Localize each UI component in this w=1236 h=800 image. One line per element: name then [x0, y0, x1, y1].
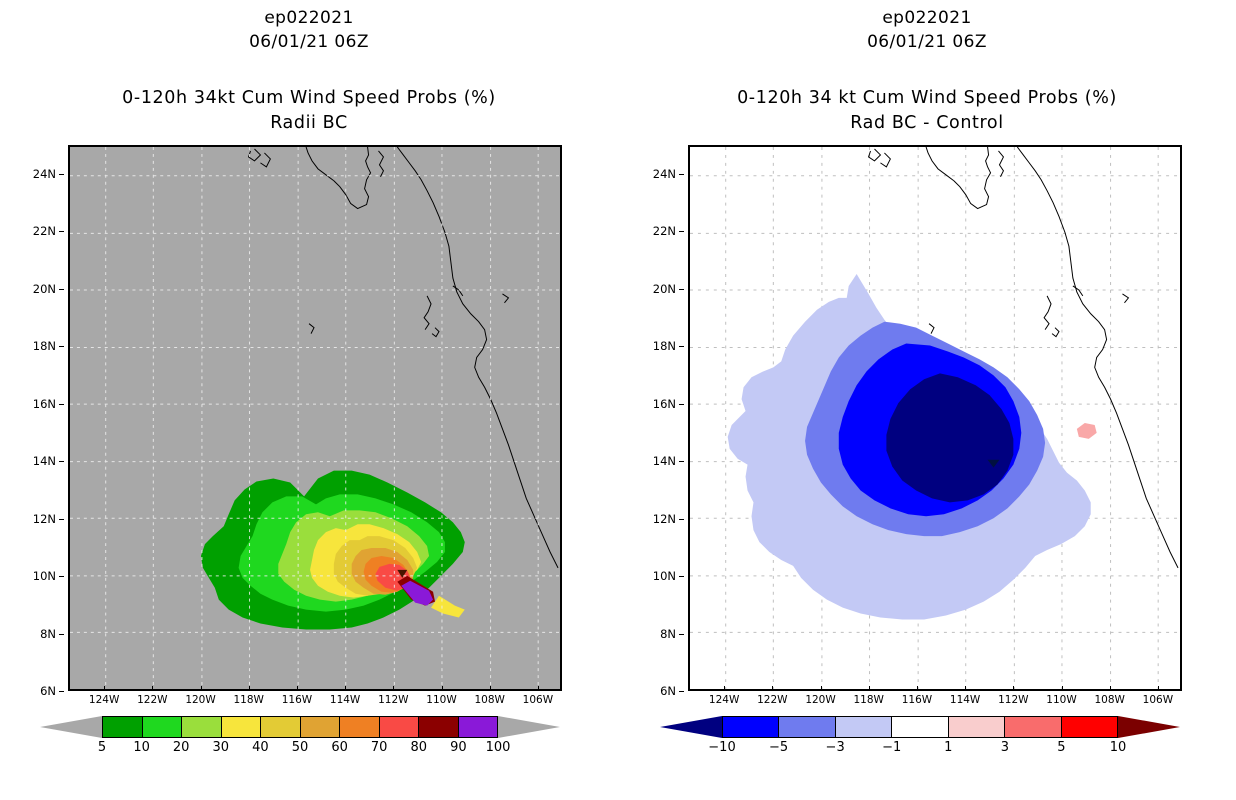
- right-x-axis: 124W122W120W118W116W114W112W110W108W106W: [688, 692, 1182, 718]
- right-xtick-122W: 122W: [757, 694, 787, 706]
- left-storm-id: ep022021: [0, 8, 618, 28]
- left-ytick-mark: [59, 174, 64, 175]
- left-xtick-116W: 116W: [282, 694, 312, 706]
- left-xtick-124W: 124W: [89, 694, 119, 706]
- right-contour-layer: [690, 147, 1180, 689]
- left-ytick-12N: 12N: [33, 512, 56, 526]
- right-xtick-mark: [1062, 686, 1063, 691]
- left-xtick-114W: 114W: [330, 694, 360, 706]
- right-xtick-116W: 116W: [902, 694, 932, 706]
- left-title-sub: Radii BC: [0, 113, 618, 133]
- left-xtick-108W: 108W: [474, 694, 504, 706]
- left-xtick-106W: 106W: [523, 694, 553, 706]
- right-ytick-18N: 18N: [653, 339, 676, 353]
- left-ytick-mark: [59, 634, 64, 635]
- right-title-sub: Rad BC - Control: [618, 113, 1236, 133]
- left-ytick-mark: [59, 289, 64, 290]
- colorbar-low-arrow-icon: [40, 716, 102, 738]
- wind-speed-probability-figure: ep022021 06/01/21 06Z 0-120h 34kt Cum Wi…: [0, 0, 1236, 800]
- left-xtick-mark: [297, 686, 298, 691]
- right-ytick-16N: 16N: [653, 397, 676, 411]
- left-ytick-18N: 18N: [33, 339, 56, 353]
- left-ytick-14N: 14N: [33, 454, 56, 468]
- left-ytick-mark: [59, 231, 64, 232]
- right-xtick-118W: 118W: [854, 694, 884, 706]
- cbar-left-ticks-label-2: 20: [173, 740, 190, 755]
- right-storm-id: ep022021: [618, 8, 1236, 28]
- left-xtick-mark: [249, 686, 250, 691]
- cbar-right-ticks-label-4: 1: [944, 740, 952, 755]
- cbar-right-ticks-label-5: 3: [1001, 740, 1009, 755]
- right-ytick-mark: [679, 634, 684, 635]
- left-ytick-mark: [59, 691, 64, 692]
- right-xtick-mark: [869, 686, 870, 691]
- right-xtick-106W: 106W: [1143, 694, 1173, 706]
- right-y-axis: 6N8N10N12N14N16N18N20N22N24N: [620, 145, 684, 691]
- left-ytick-mark: [59, 461, 64, 462]
- left-xtick-mark: [201, 686, 202, 691]
- cbar-left-ticks-label-7: 70: [371, 740, 388, 755]
- left-ytick-mark: [59, 346, 64, 347]
- left-xtick-mark: [538, 686, 539, 691]
- left-ytick-6N: 6N: [40, 684, 56, 698]
- cbar-right-ticks-label-7: 10: [1110, 740, 1127, 755]
- right-xtick-114W: 114W: [950, 694, 980, 706]
- right-xtick-112W: 112W: [998, 694, 1028, 706]
- colorbar-high-arrow-icon: [498, 716, 560, 738]
- left-xtick-118W: 118W: [234, 694, 264, 706]
- cbar-left-ticks-label-1: 10: [133, 740, 150, 755]
- right-xtick-mark: [772, 686, 773, 691]
- cbar-right-ticks-label-1: −5: [769, 740, 788, 755]
- cbar-left-ticks-label-0: 5: [98, 740, 106, 755]
- left-ytick-24N: 24N: [33, 167, 56, 181]
- right-colorbar[interactable]: −10−5−3−113510: [660, 716, 1180, 776]
- cbar-left-ticks-label-6: 60: [331, 740, 348, 755]
- right-colorbar-bands: [660, 716, 1180, 738]
- left-colorbar-bands: [40, 716, 560, 738]
- right-ytick-6N: 6N: [660, 684, 676, 698]
- right-ytick-mark: [679, 576, 684, 577]
- right-ytick-12N: 12N: [653, 512, 676, 526]
- cbar-right-ticks-label-3: −1: [882, 740, 901, 755]
- left-xtick-112W: 112W: [378, 694, 408, 706]
- left-ytick-mark: [59, 519, 64, 520]
- right-xtick-110W: 110W: [1046, 694, 1076, 706]
- right-xtick-mark: [724, 686, 725, 691]
- left-title-main: 0-120h 34kt Cum Wind Speed Probs (%): [0, 88, 618, 108]
- left-xtick-mark: [345, 686, 346, 691]
- right-ytick-mark: [679, 404, 684, 405]
- right-ytick-10N: 10N: [653, 569, 676, 583]
- left-xtick-mark: [152, 686, 153, 691]
- left-xtick-mark: [442, 686, 443, 691]
- right-ytick-22N: 22N: [653, 224, 676, 238]
- left-xtick-110W: 110W: [426, 694, 456, 706]
- right-datetime: 06/01/21 06Z: [618, 32, 1236, 52]
- cbar-right-ticks-label-6: 5: [1057, 740, 1065, 755]
- left-ytick-16N: 16N: [33, 397, 56, 411]
- right-colorbar-ticks: −10−5−3−113510: [660, 740, 1180, 762]
- right-title-main: 0-120h 34 kt Cum Wind Speed Probs (%): [618, 88, 1236, 108]
- left-ytick-10N: 10N: [33, 569, 56, 583]
- colorbar-low-arrow-icon: [660, 716, 722, 738]
- right-ytick-24N: 24N: [653, 167, 676, 181]
- left-y-axis: 6N8N10N12N14N16N18N20N22N24N: [0, 145, 64, 691]
- right-xtick-120W: 120W: [805, 694, 835, 706]
- left-map-plot[interactable]: [68, 145, 562, 691]
- right-ytick-mark: [679, 519, 684, 520]
- cbar-left-ticks-label-3: 30: [213, 740, 230, 755]
- left-xtick-mark: [490, 686, 491, 691]
- right-map-plot[interactable]: [688, 145, 1182, 691]
- cbar-right-ticks-label-0: −10: [708, 740, 735, 755]
- cbar-left-ticks-label-8: 80: [411, 740, 428, 755]
- right-xtick-mark: [1013, 686, 1014, 691]
- left-xtick-122W: 122W: [137, 694, 167, 706]
- right-ytick-8N: 8N: [660, 627, 676, 641]
- right-xtick-mark: [965, 686, 966, 691]
- right-ytick-mark: [679, 174, 684, 175]
- cbar-left-ticks-label-4: 40: [252, 740, 269, 755]
- cbar-right-ticks-label-2: −3: [826, 740, 845, 755]
- left-ytick-mark: [59, 404, 64, 405]
- right-xtick-mark: [1110, 686, 1111, 691]
- left-ytick-22N: 22N: [33, 224, 56, 238]
- colorbar-high-arrow-icon: [1118, 716, 1180, 738]
- right-ytick-mark: [679, 231, 684, 232]
- right-ytick-mark: [679, 346, 684, 347]
- right-xtick-mark: [1158, 686, 1159, 691]
- left-xtick-120W: 120W: [185, 694, 215, 706]
- left-xtick-mark: [104, 686, 105, 691]
- left-datetime: 06/01/21 06Z: [0, 32, 618, 52]
- right-ytick-14N: 14N: [653, 454, 676, 468]
- left-ytick-20N: 20N: [33, 282, 56, 296]
- right-ytick-20N: 20N: [653, 282, 676, 296]
- left-ytick-mark: [59, 576, 64, 577]
- right-xtick-mark: [821, 686, 822, 691]
- left-colorbar[interactable]: 5102030405060708090100: [40, 716, 560, 776]
- right-ytick-mark: [679, 691, 684, 692]
- cbar-left-ticks-label-5: 50: [292, 740, 309, 755]
- left-colorbar-ticks: 5102030405060708090100: [40, 740, 560, 762]
- right-ytick-mark: [679, 289, 684, 290]
- left-ytick-8N: 8N: [40, 627, 56, 641]
- cbar-left-ticks-label-9: 90: [450, 740, 467, 755]
- left-gridline-layer: [70, 147, 560, 689]
- right-xtick-108W: 108W: [1094, 694, 1124, 706]
- cbar-left-ticks-label-10: 100: [486, 740, 511, 755]
- right-ytick-mark: [679, 461, 684, 462]
- right-xtick-124W: 124W: [709, 694, 739, 706]
- left-x-axis: 124W122W120W118W116W114W112W110W108W106W: [68, 692, 562, 718]
- left-xtick-mark: [393, 686, 394, 691]
- right-xtick-mark: [917, 686, 918, 691]
